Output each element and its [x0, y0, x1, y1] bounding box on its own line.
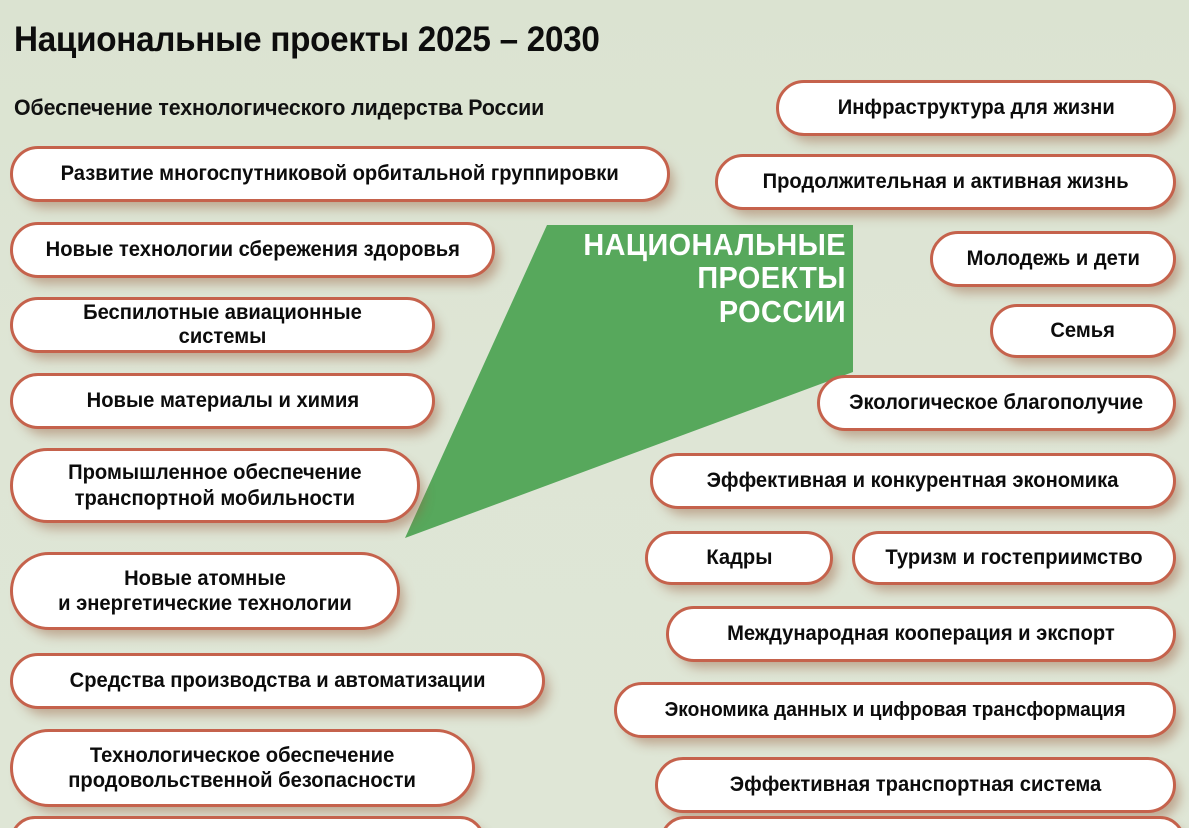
pill-right-9[interactable]: Международная кооперация и экспорт: [666, 606, 1176, 662]
pill-right-3[interactable]: Молодежь и дети: [930, 231, 1176, 287]
logo-line-3: РОССИИ: [567, 297, 846, 326]
pill-right-7-label: Кадры: [706, 546, 772, 570]
pill-left-5[interactable]: Промышленное обеспечение транспортной мо…: [10, 448, 420, 523]
logo-line-1: НАЦИОНАЛЬНЫЕ: [567, 230, 846, 259]
pill-right-11[interactable]: Эффективная транспортная система: [655, 757, 1176, 813]
pill-right-2[interactable]: Продолжительная и активная жизнь: [715, 154, 1176, 210]
pill-left-6[interactable]: Новые атомные и энергетические технологи…: [10, 552, 400, 630]
pill-left-7[interactable]: Средства производства и автоматизации: [10, 653, 545, 709]
pill-right-2-label: Продолжительная и активная жизнь: [762, 170, 1128, 194]
pill-left-2[interactable]: Новые технологии сбережения здоровья: [10, 222, 495, 278]
pill-left-7-label: Средства производства и автоматизации: [70, 669, 486, 693]
pill-right-8[interactable]: Туризм и гостеприимство: [852, 531, 1176, 585]
pill-right-10[interactable]: Экономика данных и цифровая трансформаци…: [614, 682, 1176, 738]
pill-left-1-label: Развитие многоспутниковой орбитальной гр…: [61, 162, 619, 186]
pill-right-4-label: Семья: [1051, 319, 1116, 343]
pill-left-4[interactable]: Новые материалы и химия: [10, 373, 435, 429]
pill-left-2-label: Новые технологии сбережения здоровья: [45, 238, 459, 262]
pill-right-10-label: Экономика данных и цифровая трансформаци…: [665, 699, 1126, 721]
page-title: Национальные проекты 2025 – 2030: [14, 20, 600, 60]
pill-left-3-label: Беспилотные авиационные системы: [37, 301, 409, 348]
pill-right-1[interactable]: Инфраструктура для жизни: [776, 80, 1176, 136]
pill-right-3-label: Молодежь и дети: [966, 247, 1139, 271]
pill-left-3[interactable]: Беспилотные авиационные системы: [10, 297, 435, 353]
pill-left-4-label: Новые материалы и химия: [86, 389, 358, 413]
pill-cut-left[interactable]: [10, 816, 485, 828]
pill-left-6-label: Новые атомные и энергетические технологи…: [58, 566, 352, 616]
pill-left-1[interactable]: Развитие многоспутниковой орбитальной гр…: [10, 146, 670, 202]
infographic-canvas: НАЦИОНАЛЬНЫЕ ПРОЕКТЫ РОССИИ Национальные…: [0, 0, 1189, 828]
pill-left-5-label: Промышленное обеспечение транспортной мо…: [68, 460, 362, 510]
pill-right-6-label: Эффективная и конкурентная экономика: [707, 469, 1119, 493]
pill-right-5-label: Экологическое благополучие: [850, 391, 1144, 415]
pill-left-8-label: Технологическое обеспечение продовольств…: [69, 743, 417, 793]
logo-line-2: ПРОЕКТЫ: [567, 263, 846, 292]
pill-right-6[interactable]: Эффективная и конкурентная экономика: [650, 453, 1176, 509]
pill-right-1-label: Инфраструктура для жизни: [838, 96, 1115, 120]
pill-right-9-label: Международная кооперация и экспорт: [727, 622, 1115, 646]
logo-wordmark: НАЦИОНАЛЬНЫЕ ПРОЕКТЫ РОССИИ: [546, 230, 852, 326]
pill-right-7[interactable]: Кадры: [645, 531, 833, 585]
pill-cut-right[interactable]: [660, 816, 1185, 828]
section-heading-tech-leadership: Обеспечение технологического лидерства Р…: [14, 95, 544, 121]
pill-right-5[interactable]: Экологическое благополучие: [817, 375, 1176, 431]
pill-right-8-label: Туризм и гостеприимство: [885, 546, 1142, 570]
pill-left-8[interactable]: Технологическое обеспечение продовольств…: [10, 729, 475, 807]
pill-right-4[interactable]: Семья: [990, 304, 1176, 358]
pill-right-11-label: Эффективная транспортная система: [730, 773, 1102, 797]
